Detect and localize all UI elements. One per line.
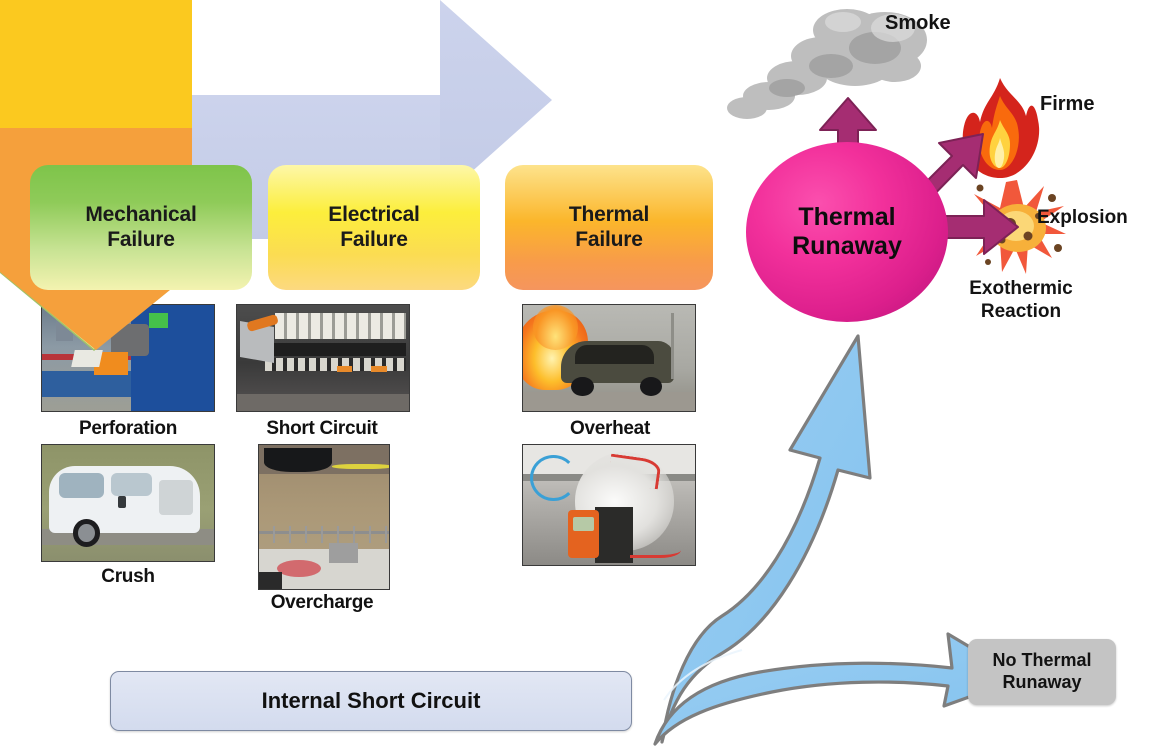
header-electrical-line1: Electrical [328,203,419,228]
thermal-runaway-node[interactable]: Thermal Runaway [746,142,948,322]
header-electrical-failure[interactable]: Electrical Failure [268,165,480,290]
header-mechanical-line1: Mechanical [85,203,196,228]
header-mechanical-line2: Failure [85,228,196,253]
thermal-runaway-label-line2: Runaway [792,232,902,261]
thermal-runaway-label-line1: Thermal [792,203,902,232]
header-mechanical-failure[interactable]: Mechanical Failure [30,165,252,290]
thermal-runaway-emission-arrows [0,0,1150,749]
diagram-canvas: Perforation Crush Short Circuit [0,0,1150,749]
header-thermal-line1: Thermal [569,203,649,228]
header-electrical-line2: Failure [328,228,419,253]
header-thermal-failure[interactable]: Thermal Failure [505,165,713,290]
header-thermal-line2: Failure [569,228,649,253]
